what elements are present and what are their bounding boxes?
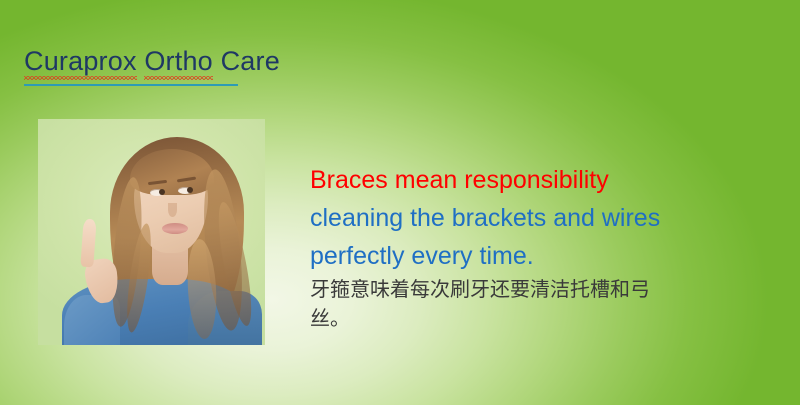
photo-backdrop	[38, 119, 265, 345]
body-line-1: Braces mean responsibility	[310, 161, 740, 199]
woman-pointing-photo[interactable]	[38, 119, 265, 345]
title-space-2	[213, 46, 221, 76]
body-line-4-chinese: 牙箍意味着每次刷牙还要清洁托槽和弓	[310, 275, 740, 304]
pupil-left	[159, 189, 165, 195]
body-line-3: perfectly every time.	[310, 237, 740, 275]
title-word-curaprox: Curaprox	[24, 48, 137, 75]
lips	[162, 223, 188, 234]
title-text: Curaprox Ortho Care	[24, 48, 280, 75]
raised-arm	[64, 295, 120, 345]
title-space-1	[137, 46, 145, 76]
title-underline	[24, 84, 238, 86]
body-line-5-chinese: 丝。	[310, 304, 740, 333]
slide-canvas: Curaprox Ortho Care	[0, 0, 800, 405]
body-line-2: cleaning the brackets and wires	[310, 199, 740, 237]
nose	[168, 203, 177, 217]
title-word-care: Care	[221, 48, 280, 75]
body-text-block[interactable]: Braces mean responsibility cleaning the …	[310, 161, 740, 333]
slide-title[interactable]: Curaprox Ortho Care	[24, 48, 280, 75]
title-word-ortho: Ortho	[144, 48, 213, 75]
pupil-right	[187, 187, 193, 193]
